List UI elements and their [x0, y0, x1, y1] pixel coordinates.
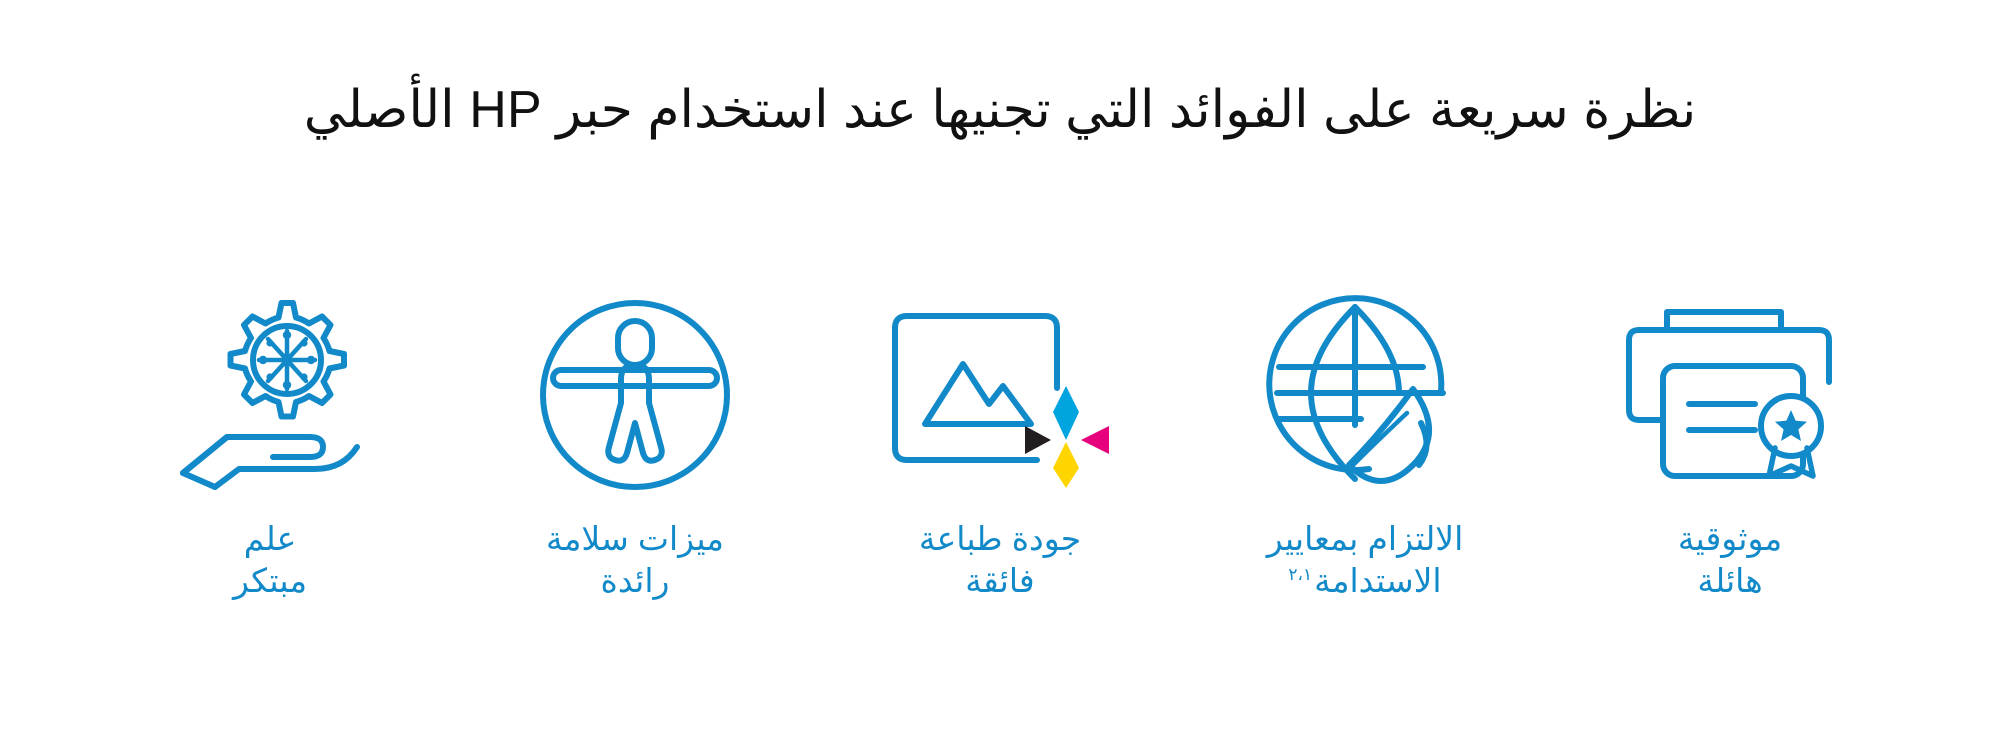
sparkle-black [1025, 426, 1051, 454]
sparkle-cyan [1053, 386, 1079, 440]
gear-in-hand-icon [175, 290, 365, 500]
feature-label: ميزات سلامة رائدة [546, 518, 724, 601]
sustainability-label-text: الاستدامة [1314, 562, 1441, 599]
photo-frame-cmyk-sparkle-icon [885, 290, 1115, 500]
footnote-marker: ٢،١ [1288, 565, 1314, 584]
page-title: نظرة سريعة على الفوائد التي تجنيها عند ا… [0, 78, 2000, 143]
sparkle-yellow [1053, 442, 1079, 488]
feature-item-innovative-science: علم مبتكر [100, 290, 440, 601]
feature-label-line1: ميزات سلامة [546, 518, 724, 560]
feature-item-reliability: موثوقية هائلة [1560, 290, 1900, 601]
feature-label: جودة طباعة فائقة [919, 518, 1081, 601]
feature-label-line1: جودة طباعة [919, 518, 1081, 560]
promo-banner: نظرة سريعة على الفوائد التي تجنيها عند ا… [0, 0, 2000, 750]
feature-label-line1: موثوقية [1678, 518, 1782, 560]
accessibility-person-circle-icon [535, 290, 735, 500]
feature-label: علم مبتكر [233, 518, 307, 601]
printer-award-badge-icon [1623, 290, 1838, 500]
feature-item-sustainability: الالتزام بمعايير الاستدامة٢،١ [1195, 290, 1535, 601]
sparkle-magenta [1081, 426, 1109, 454]
feature-list: علم مبتكر ميزات سلامة رائدة [100, 290, 1900, 601]
feature-label-line2: هائلة [1678, 560, 1782, 602]
feature-item-print-quality: جودة طباعة فائقة [830, 290, 1170, 601]
feature-label-line1: الالتزام بمعايير [1267, 518, 1464, 560]
feature-label-line2: الاستدامة٢،١ [1267, 560, 1464, 602]
feature-label-line1: علم [233, 518, 307, 560]
feature-label-line2: فائقة [919, 560, 1081, 602]
globe-leaf-icon [1265, 290, 1465, 500]
feature-label-line2: مبتكر [233, 560, 307, 602]
feature-item-safety-features: ميزات سلامة رائدة [465, 290, 805, 601]
feature-label: الالتزام بمعايير الاستدامة٢،١ [1267, 518, 1464, 601]
feature-label-line2: رائدة [546, 560, 724, 602]
feature-label: موثوقية هائلة [1678, 518, 1782, 601]
